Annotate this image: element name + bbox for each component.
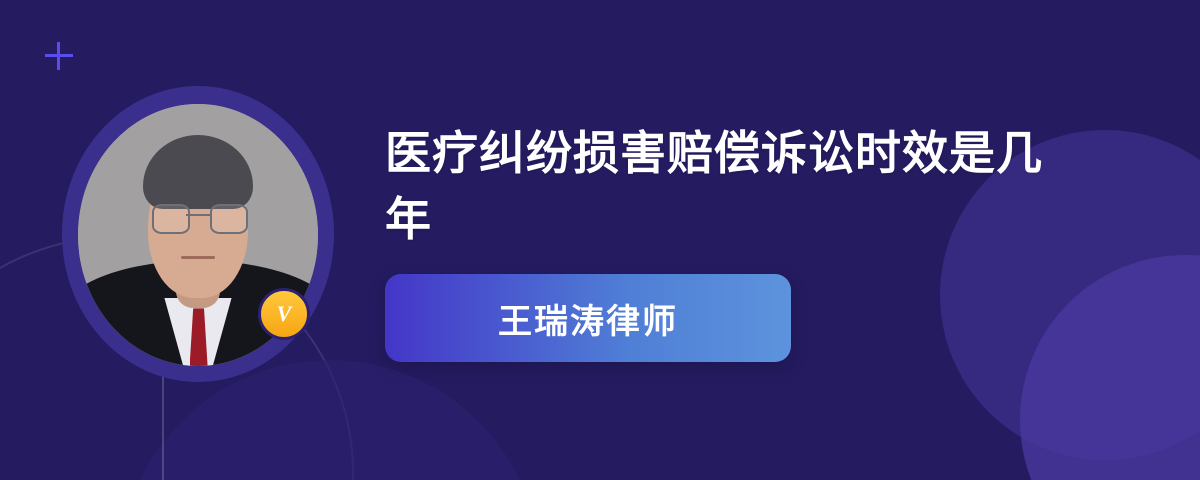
plus-icon [45, 42, 73, 70]
background-vertical-line [162, 370, 164, 480]
portrait-glasses-right [210, 204, 248, 234]
portrait-eyebrow-left [155, 196, 184, 199]
avatar: V [62, 86, 342, 386]
verified-badge-icon: V [258, 288, 310, 340]
lawyer-name-pill: 王瑞涛律师 [385, 274, 791, 362]
page-title: 医疗纠纷损害赔偿诉讼时效是几年 [385, 120, 1075, 252]
banner-content: 医疗纠纷损害赔偿诉讼时效是几年 王瑞涛律师 [385, 120, 1085, 362]
portrait-mouth [181, 256, 215, 259]
lawyer-video-banner: V 医疗纠纷损害赔偿诉讼时效是几年 王瑞涛律师 [0, 0, 1200, 480]
portrait-glasses-bridge [186, 214, 210, 216]
portrait-eyebrow-right [212, 196, 241, 199]
portrait-glasses-left [152, 204, 190, 234]
